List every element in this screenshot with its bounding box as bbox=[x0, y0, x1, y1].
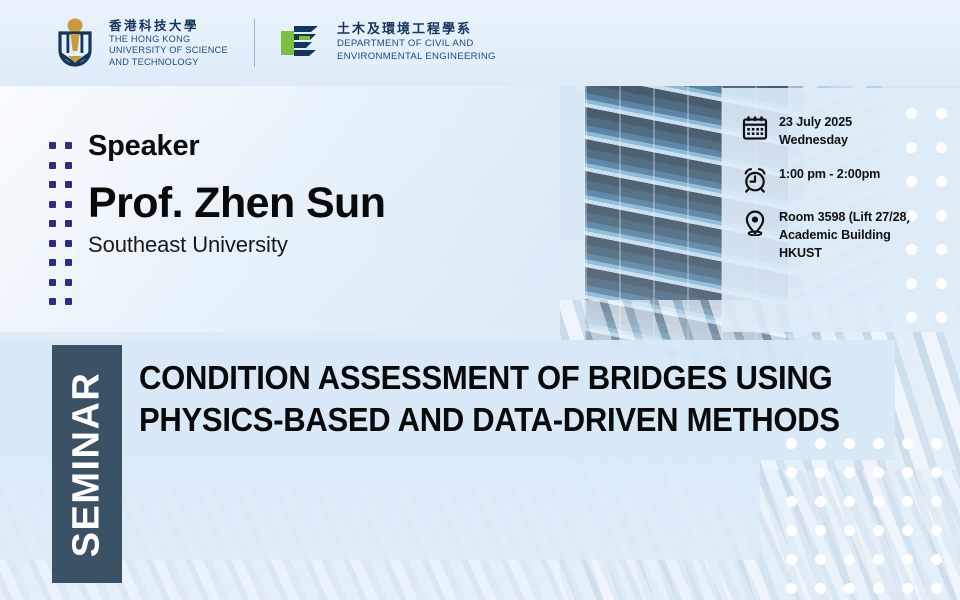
dot bbox=[65, 298, 72, 305]
dot bbox=[786, 467, 797, 478]
location-pin-icon bbox=[742, 210, 768, 236]
seminar-poster: 香港科技大學 THE HONG KONG UNIVERSITY OF SCIEN… bbox=[0, 0, 960, 600]
university-logo: 香港科技大學 THE HONG KONG UNIVERSITY OF SCIEN… bbox=[52, 18, 228, 68]
logo-divider bbox=[254, 19, 255, 67]
dot bbox=[49, 162, 56, 169]
department-name-en-1: DEPARTMENT OF CIVIL AND bbox=[337, 39, 496, 50]
university-name-en-2: UNIVERSITY OF SCIENCE bbox=[109, 45, 228, 55]
detail-text-date: 23 July 2025 Wednesday bbox=[779, 114, 852, 150]
dot bbox=[873, 467, 884, 478]
dot bbox=[815, 525, 826, 536]
detail-text-time: 1:00 pm - 2:00pm bbox=[779, 166, 880, 184]
dot bbox=[902, 525, 913, 536]
dot bbox=[936, 312, 947, 323]
university-logo-text: 香港科技大學 THE HONG KONG UNIVERSITY OF SCIEN… bbox=[109, 19, 228, 67]
speaker-name: Prof. Zhen Sun bbox=[88, 181, 385, 226]
dot bbox=[873, 583, 884, 594]
speaker-label: Speaker bbox=[88, 130, 385, 163]
seminar-title: CONDITION ASSESSMENT OF BRIDGES USING PH… bbox=[139, 357, 797, 440]
dot bbox=[65, 162, 72, 169]
dot bbox=[936, 278, 947, 289]
dot bbox=[906, 278, 917, 289]
dot bbox=[902, 583, 913, 594]
dot bbox=[49, 142, 56, 149]
dot bbox=[844, 467, 855, 478]
civl-department-icon bbox=[277, 23, 325, 63]
calendar-icon bbox=[742, 115, 768, 141]
decorative-dot-grid-right-top bbox=[906, 108, 960, 346]
dot bbox=[844, 554, 855, 565]
dot bbox=[906, 108, 917, 119]
dot bbox=[815, 496, 826, 507]
dot bbox=[844, 583, 855, 594]
dot bbox=[931, 554, 942, 565]
detail-time-line1: 1:00 pm - 2:00pm bbox=[779, 166, 880, 184]
dot bbox=[931, 467, 942, 478]
dot bbox=[844, 496, 855, 507]
dot bbox=[815, 583, 826, 594]
header-band: 香港科技大學 THE HONG KONG UNIVERSITY OF SCIEN… bbox=[0, 0, 960, 86]
speaker-block: Speaker Prof. Zhen Sun Southeast Univers… bbox=[88, 130, 385, 258]
dot bbox=[49, 279, 56, 286]
dot bbox=[873, 438, 884, 449]
dot bbox=[902, 496, 913, 507]
dot bbox=[936, 142, 947, 153]
dot bbox=[873, 554, 884, 565]
department-name-cn: 土木及環境工程學系 bbox=[337, 23, 496, 38]
department-logo: 土木及環境工程學系 DEPARTMENT OF CIVIL AND ENVIRO… bbox=[277, 23, 496, 64]
department-logo-text: 土木及環境工程學系 DEPARTMENT OF CIVIL AND ENVIRO… bbox=[337, 23, 496, 64]
dot bbox=[65, 279, 72, 286]
dot bbox=[49, 220, 56, 227]
dot bbox=[786, 554, 797, 565]
detail-venue-line2: Academic Building bbox=[779, 227, 910, 245]
dot bbox=[786, 525, 797, 536]
decorative-dot-grid-left bbox=[49, 142, 81, 318]
dot bbox=[902, 438, 913, 449]
university-name-en-3: AND TECHNOLOGY bbox=[109, 57, 228, 67]
detail-venue-line1: Room 3598 (Lift 27/28) bbox=[779, 209, 910, 227]
dot bbox=[936, 210, 947, 221]
dot bbox=[906, 312, 917, 323]
dot bbox=[936, 108, 947, 119]
dot bbox=[49, 298, 56, 305]
dot bbox=[906, 176, 917, 187]
dot bbox=[65, 201, 72, 208]
dot bbox=[815, 467, 826, 478]
department-name-en-2: ENVIRONMENTAL ENGINEERING bbox=[337, 52, 496, 63]
dot bbox=[815, 554, 826, 565]
dot bbox=[902, 554, 913, 565]
dot bbox=[786, 583, 797, 594]
detail-venue-line3: HKUST bbox=[779, 245, 910, 263]
dot bbox=[65, 142, 72, 149]
seminar-title-line1: CONDITION ASSESSMENT OF BRIDGES USING bbox=[139, 357, 797, 399]
detail-text-venue: Room 3598 (Lift 27/28) Academic Building… bbox=[779, 209, 910, 263]
dot bbox=[936, 244, 947, 255]
dot bbox=[49, 181, 56, 188]
dot bbox=[906, 210, 917, 221]
dot bbox=[931, 496, 942, 507]
speaker-affiliation: Southeast University bbox=[88, 232, 385, 258]
dot bbox=[49, 201, 56, 208]
dot bbox=[786, 496, 797, 507]
dot bbox=[815, 438, 826, 449]
dot bbox=[873, 496, 884, 507]
alarm-clock-icon bbox=[742, 167, 768, 193]
university-name-en-1: THE HONG KONG bbox=[109, 34, 228, 44]
dot bbox=[49, 240, 56, 247]
dot bbox=[936, 176, 947, 187]
dot bbox=[931, 525, 942, 536]
dot bbox=[873, 525, 884, 536]
seminar-tab-label: SEMINAR bbox=[66, 371, 109, 557]
dot bbox=[65, 220, 72, 227]
dot bbox=[906, 244, 917, 255]
dot bbox=[844, 525, 855, 536]
detail-date-line1: 23 July 2025 bbox=[779, 114, 852, 132]
dot bbox=[65, 181, 72, 188]
dot bbox=[65, 240, 72, 247]
dot bbox=[65, 259, 72, 266]
dot bbox=[931, 438, 942, 449]
dot bbox=[931, 583, 942, 594]
dot bbox=[49, 259, 56, 266]
hkust-crest-icon bbox=[52, 18, 98, 68]
university-name-cn: 香港科技大學 bbox=[109, 19, 228, 33]
dot bbox=[906, 142, 917, 153]
seminar-tab: SEMINAR bbox=[52, 345, 122, 583]
dot bbox=[902, 467, 913, 478]
seminar-title-line2: PHYSICS-BASED AND DATA-DRIVEN METHODS bbox=[139, 399, 797, 441]
dot bbox=[844, 438, 855, 449]
decorative-dot-grid-bottom-right bbox=[786, 438, 960, 600]
detail-date-line2: Wednesday bbox=[779, 132, 852, 150]
